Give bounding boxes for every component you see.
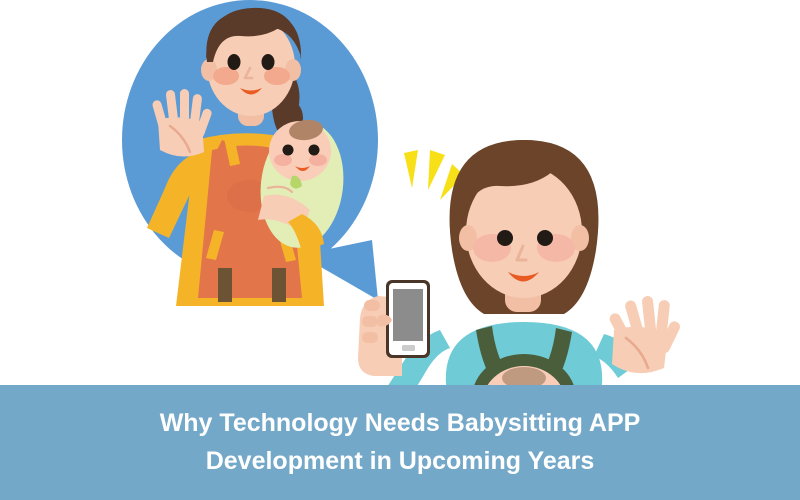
baby-eye-right (309, 145, 320, 156)
sparkle-1 (404, 150, 418, 188)
mother-eye-right (262, 54, 275, 70)
woman-waving-hand (608, 296, 682, 374)
mother-eye-left (228, 54, 241, 70)
phone-screen (393, 289, 423, 341)
baby-cheek-right (309, 154, 327, 166)
woman-palm (612, 327, 668, 373)
woman-eye-right (537, 230, 553, 246)
page-root: Why Technology Needs Babysitting APP Dev… (0, 0, 800, 500)
baby-cheek-left (274, 154, 292, 166)
mother-leg-right (272, 268, 286, 302)
mother-leg-left (218, 268, 232, 302)
phone-home-button (402, 345, 415, 351)
sparkle-2 (428, 150, 445, 190)
title-banner: Why Technology Needs Babysitting APP Dev… (0, 385, 800, 500)
baby-eye-left (283, 145, 294, 156)
page-title: Why Technology Needs Babysitting APP Dev… (80, 404, 720, 480)
woman-eye-left (497, 230, 513, 246)
